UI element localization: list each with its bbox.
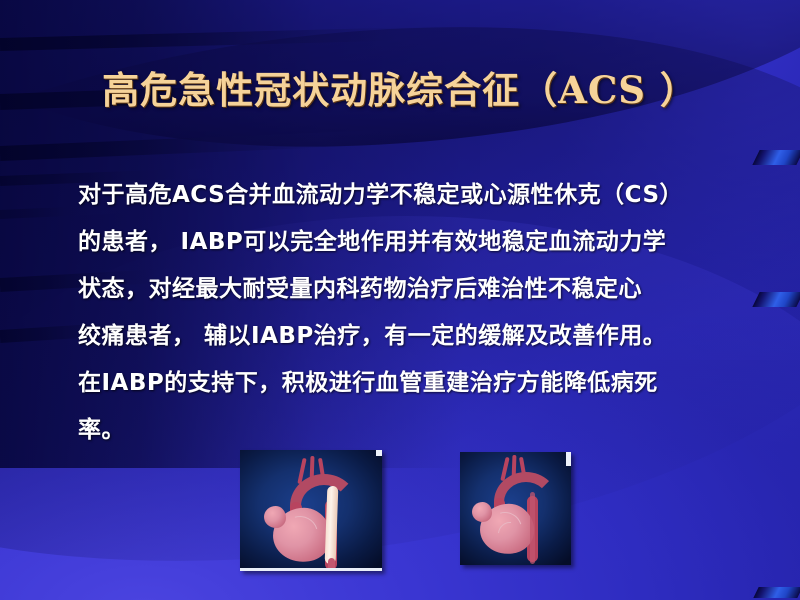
body-line-1: 对于高危ACS合并血流动力学不稳定或心源性休克（CS） xyxy=(78,172,743,219)
body-line-4: 绞痛患者， 辅以IABP治疗，有一定的缓解及改善作用。 xyxy=(78,313,743,360)
figure-heart-balloon-inflated xyxy=(240,450,382,571)
body-line-5: 在IABP的支持下，积极进行血管重建治疗方能降低病死 xyxy=(78,360,743,407)
figure-1-bottom-edge xyxy=(240,568,382,571)
presentation-slide: 高危急性冠状动脉综合征（ACS ） 对于高危ACS合并血流动力学不稳定或心源性休… xyxy=(0,0,800,600)
edge-mark-bottom-icon xyxy=(753,587,800,598)
body-line-2: 的患者， IABP可以完全地作用并有效地稳定血流动力学 xyxy=(78,219,743,266)
figure-2-left-atrium xyxy=(472,502,492,522)
figure-1-left-atrium xyxy=(264,506,286,528)
edge-mark-middle-icon xyxy=(752,292,800,307)
body-line-6: 率。 xyxy=(78,407,743,454)
figure-2-catheter xyxy=(530,492,535,564)
figure-1-corner-marker xyxy=(376,450,382,456)
body-line-3: 状态，对经最大耐受量内科药物治疗后难治性不稳定心 xyxy=(78,266,743,313)
slide-title: 高危急性冠状动脉综合征（ACS ） xyxy=(0,68,800,112)
slide-body-text: 对于高危ACS合并血流动力学不稳定或心源性休克（CS） 的患者， IABP可以完… xyxy=(78,172,743,454)
figure-2-corner-marker xyxy=(566,452,571,466)
figure-heart-balloon-deflated xyxy=(460,452,571,565)
edge-mark-top-icon xyxy=(752,150,800,165)
